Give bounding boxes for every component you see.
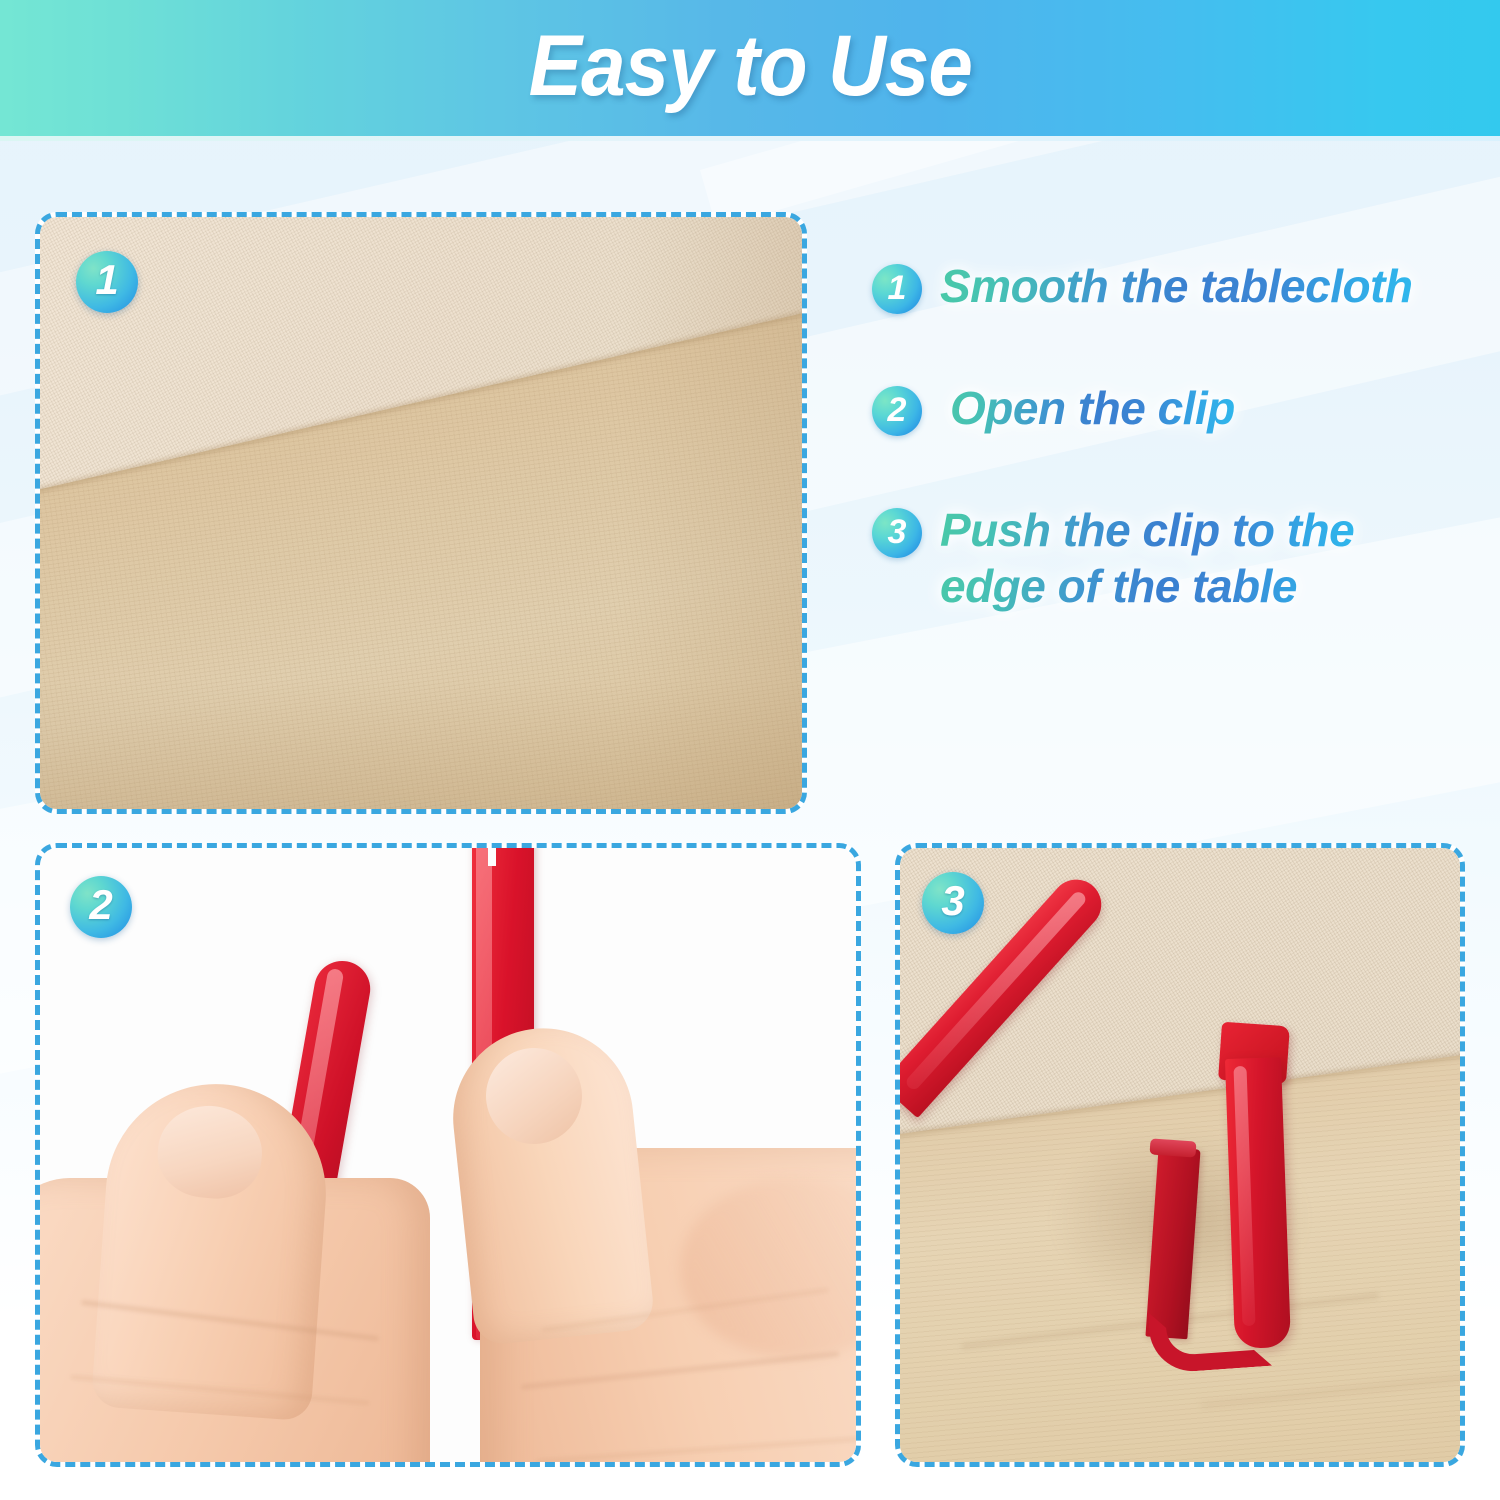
page-title: Easy to Use xyxy=(528,23,971,113)
panel-badge-number: 3 xyxy=(941,880,964,922)
step-badge-number: 3 xyxy=(888,515,907,549)
step-label-3: Push the clip to the edge of the table xyxy=(940,502,1364,614)
cloth-shadow-bottom xyxy=(40,679,802,809)
photo-hands-opening-clip xyxy=(40,848,856,1462)
step-photo-panel-2: 2 xyxy=(35,843,861,1467)
photo-tablecloth-closeup xyxy=(40,217,802,809)
step-label-1: Smooth the tablecloth xyxy=(940,258,1423,314)
panel-badge-number: 1 xyxy=(95,259,118,301)
panel-badge-3: 3 xyxy=(922,872,984,934)
panel-badge-number: 2 xyxy=(89,884,112,926)
header-underline xyxy=(0,136,1500,141)
panel-badge-2: 2 xyxy=(70,876,132,938)
clip-inner-tongue-tip xyxy=(1149,1138,1196,1157)
header-banner: Easy to Use xyxy=(0,0,1500,136)
infographic-canvas: Easy to Use 1 xyxy=(0,0,1500,1500)
clip-top-notch xyxy=(488,848,496,866)
step-label-2: Open the clip xyxy=(940,380,1245,436)
step-badge-3: 3 xyxy=(872,508,922,558)
step-item-3: 3 Push the clip to the edge of the table xyxy=(872,502,1482,614)
step-item-2: 2 Open the clip xyxy=(872,380,1482,436)
step-badge-2: 2 xyxy=(872,386,922,436)
step-badge-number: 1 xyxy=(888,271,907,305)
step-photo-panel-1: 1 xyxy=(35,212,807,814)
step-photo-panel-3: 3 xyxy=(895,843,1465,1467)
step-label-3-line1: Push the clip to the xyxy=(940,504,1354,556)
panel-badge-1: 1 xyxy=(76,251,138,313)
photo-clip-on-table-edge xyxy=(900,848,1460,1462)
step-item-1: 1 Smooth the tablecloth xyxy=(872,258,1482,314)
steps-list: 1 Smooth the tablecloth 2 Open the clip … xyxy=(872,258,1482,680)
step-label-3-line2: edge of the table xyxy=(940,560,1297,612)
step-badge-1: 1 xyxy=(872,264,922,314)
step-badge-number: 2 xyxy=(888,393,907,427)
